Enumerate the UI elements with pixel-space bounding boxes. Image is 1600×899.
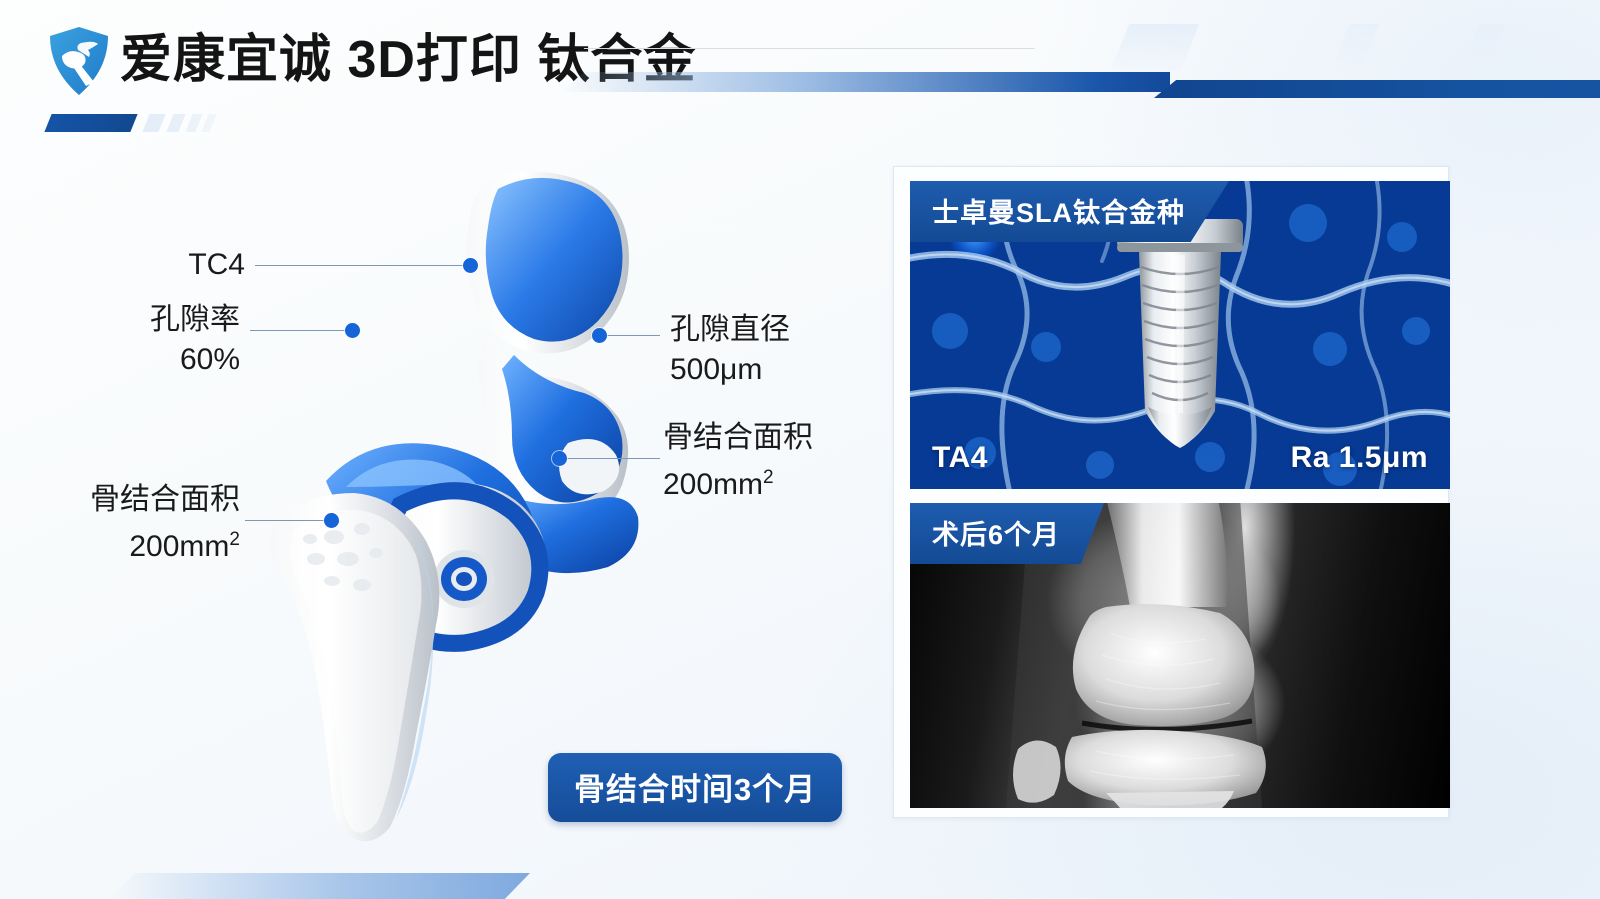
leader-line-pore-diameter xyxy=(600,335,660,336)
leader-line-porosity xyxy=(250,330,350,331)
annotation-dot-pore-diameter xyxy=(592,328,607,343)
sla-titanium-surface-image: 士卓曼SLA钛合金种 TA4 Ra 1.5μm xyxy=(910,181,1450,489)
bone-screw-implant-icon xyxy=(1115,215,1245,451)
header-streak xyxy=(185,114,202,132)
osseointegration-time-badge: 骨结合时间3个月 xyxy=(548,753,842,822)
page-header: 爱康宜诚 3D打印 钛合金 xyxy=(0,0,1600,140)
header-hairline xyxy=(575,48,1035,68)
header-accent-bar xyxy=(44,114,137,132)
leader-line-tc4 xyxy=(255,265,467,266)
3d-printed-titanium-implant-render xyxy=(250,155,670,845)
header-ghost-shape xyxy=(1111,24,1200,70)
evidence-card: 士卓曼SLA钛合金种 TA4 Ra 1.5μm xyxy=(893,166,1449,818)
annotation-dot-porosity xyxy=(345,323,360,338)
header-ghost-shape xyxy=(1461,24,1506,70)
xray-panel-label: 术后6个月 xyxy=(910,503,1104,564)
annotation-label-tc4: TC4 xyxy=(55,245,245,285)
header-streak xyxy=(142,114,165,132)
annotation-dot-tc4 xyxy=(463,258,478,273)
post-op-knee-xray-image: 术后6个月 xyxy=(910,503,1450,808)
annotation-dot-bone-area-left xyxy=(324,513,339,528)
leader-line-bone-area-right xyxy=(562,458,660,459)
annotation-dot-bone-area-right xyxy=(552,451,567,466)
annotation-label-porosity: 孔隙率 60% xyxy=(45,300,240,380)
header-streak xyxy=(166,114,185,132)
annotation-label-bone-area-right: 骨结合面积 200mm2 xyxy=(663,418,813,505)
sem-panel-label: 士卓曼SLA钛合金种 xyxy=(910,181,1229,242)
annotation-label-pore-diameter: 孔隙直径 500μm xyxy=(670,310,790,390)
header-ghost-shape xyxy=(1331,24,1380,70)
header-streak xyxy=(201,114,216,132)
shield-logo-icon xyxy=(48,26,110,96)
header-blue-band xyxy=(560,66,1600,92)
sem-material-tag: TA4 xyxy=(932,441,988,475)
footer-accent-band xyxy=(110,873,530,899)
annotation-label-bone-area-left: 骨结合面积 200mm2 xyxy=(10,480,240,567)
leader-line-bone-area-left xyxy=(245,520,330,521)
sem-roughness-tag: Ra 1.5μm xyxy=(1291,441,1428,475)
